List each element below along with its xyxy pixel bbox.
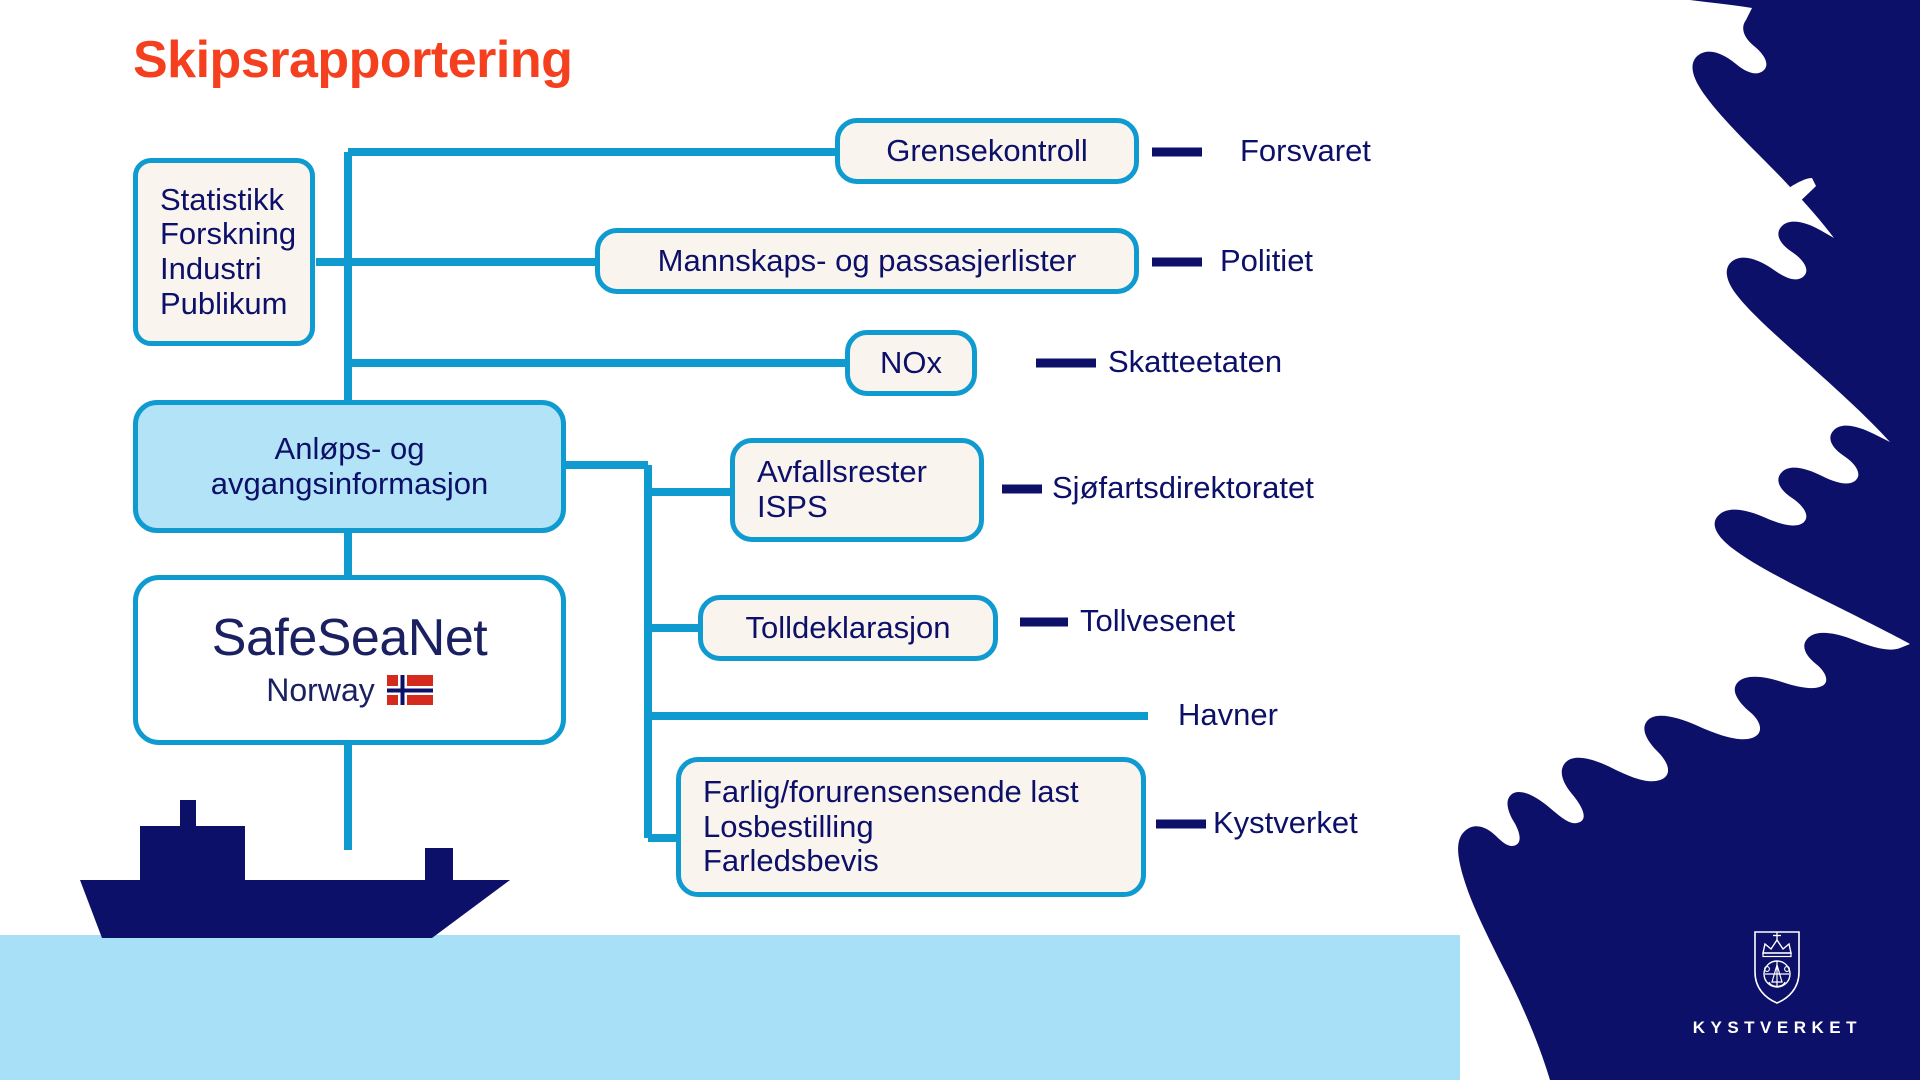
agency-label-kystverket: Kystverket: [1213, 805, 1358, 841]
agency-label-skatteetaten: Skatteetaten: [1108, 344, 1282, 380]
tolldeklarasjon-lines: Tolldeklarasjon: [745, 611, 950, 646]
agency-label-politiet: Politiet: [1220, 243, 1313, 279]
source-audience-lines: Statistikk Forskning Industri Publikum: [160, 183, 296, 322]
norwegian-flag-icon: [387, 675, 433, 705]
avfall-line-2: ISPS: [757, 490, 927, 525]
tolldeklarasjon-line-1: Tolldeklarasjon: [745, 611, 950, 646]
source-line-2: Forskning: [160, 217, 296, 252]
ship-silhouette-icon: [80, 790, 510, 940]
avfall-line-1: Avfallsrester: [757, 455, 927, 490]
agency-label-tollvesenet: Tollvesenet: [1080, 603, 1235, 639]
agency-label-havner: Havner: [1178, 697, 1278, 733]
kystverket-wordmark: KYSTVERKET: [1693, 1018, 1862, 1038]
report-box-grensekontroll[interactable]: Grensekontroll: [835, 118, 1139, 184]
slide-canvas: Skipsrapportering Statistikk Forskning I…: [0, 0, 1920, 1080]
report-box-avfall-isps[interactable]: Avfallsrester ISPS: [730, 438, 984, 542]
mannskapslister-lines: Mannskaps- og passasjerlister: [658, 244, 1077, 279]
hub-arrival-departure-box[interactable]: Anløps- og avgangsinformasjon: [133, 400, 566, 533]
hub-line-2: avgangsinformasjon: [211, 467, 488, 502]
safeseanet-title: SafeSeaNet: [212, 612, 487, 664]
safeseanet-box[interactable]: SafeSeaNet Norway: [133, 575, 566, 745]
kystverket-item-1: Farlig/forurensensende last: [703, 775, 1079, 810]
kystverket-items-lines: Farlig/forurensensende last Losbestillin…: [703, 775, 1079, 879]
source-line-1: Statistikk: [160, 183, 296, 218]
safeseanet-country-row: Norway: [266, 672, 432, 709]
agency-label-sjofartsdirektoratet: Sjøfartsdirektoratet: [1052, 470, 1314, 506]
kystverket-item-3: Farledsbevis: [703, 844, 1079, 879]
kystverket-brand-logo: KYSTVERKET: [1693, 920, 1862, 1038]
kystverket-crest-icon: [1745, 920, 1809, 1006]
agency-label-forsvaret: Forsvaret: [1240, 133, 1371, 169]
hub-lines: Anløps- og avgangsinformasjon: [211, 432, 488, 501]
safeseanet-country: Norway: [266, 672, 374, 709]
source-line-4: Publikum: [160, 287, 296, 322]
report-box-tolldeklarasjon[interactable]: Tolldeklarasjon: [698, 595, 998, 661]
page-title: Skipsrapportering: [133, 30, 572, 90]
kystverket-item-2: Losbestilling: [703, 810, 1079, 845]
source-line-3: Industri: [160, 252, 296, 287]
report-box-nox[interactable]: NOx: [845, 330, 977, 396]
mannskapslister-line-1: Mannskaps- og passasjerlister: [658, 244, 1077, 279]
sea-band: [0, 935, 1460, 1080]
nox-lines: NOx: [880, 346, 942, 381]
hub-line-1: Anløps- og: [211, 432, 488, 467]
nox-line-1: NOx: [880, 346, 942, 381]
grensekontroll-lines: Grensekontroll: [886, 134, 1088, 169]
avfall-isps-lines: Avfallsrester ISPS: [757, 455, 927, 524]
grensekontroll-line-1: Grensekontroll: [886, 134, 1088, 169]
report-box-kystverket-items[interactable]: Farlig/forurensensende last Losbestillin…: [676, 757, 1146, 897]
source-audience-box[interactable]: Statistikk Forskning Industri Publikum: [133, 158, 315, 346]
report-box-mannskapslister[interactable]: Mannskaps- og passasjerlister: [595, 228, 1139, 294]
